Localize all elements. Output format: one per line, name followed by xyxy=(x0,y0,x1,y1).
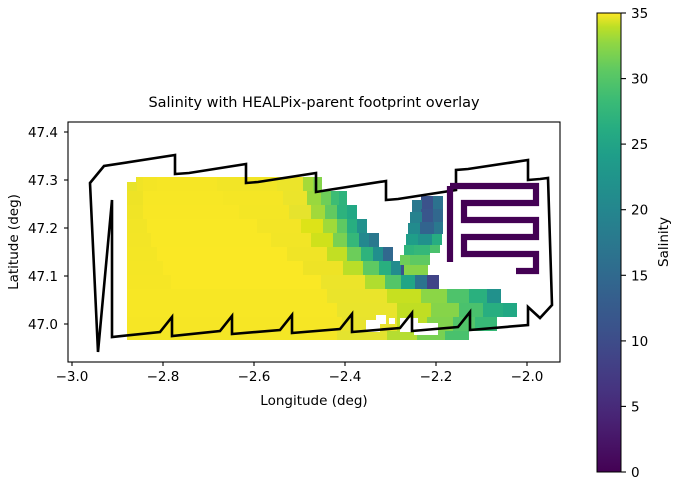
colorbar-tick-label-4: 20 xyxy=(631,203,648,219)
matplotlib-figure: Salinity with HEALPix-parent footprint o… xyxy=(0,0,677,489)
colorbar-tick-label-6: 30 xyxy=(631,72,648,88)
x-axis-label: Longitude (deg) xyxy=(260,393,367,409)
y-tick-label-1: 47.1 xyxy=(28,269,58,285)
figure-canvas: Salinity with HEALPix-parent footprint o… xyxy=(0,0,677,489)
y-tick-label-0: 47.0 xyxy=(28,317,58,333)
x-tick-label-2: −2.6 xyxy=(238,369,271,385)
colorbar-label: Salinity xyxy=(656,217,672,267)
y-tick-label-3: 47.3 xyxy=(28,173,58,189)
y-tick-label-4: 47.4 xyxy=(28,125,58,141)
colorbar-gradient xyxy=(597,13,621,472)
x-tick-label-4: −2.2 xyxy=(420,369,453,385)
colorbar-tick-label-0: 0 xyxy=(631,465,640,481)
y-tick-label-2: 47.2 xyxy=(28,221,58,237)
colorbar-tick-label-5: 25 xyxy=(631,137,648,153)
colorbar-tick-label-3: 15 xyxy=(631,268,648,284)
colorbar-tick-label-7: 35 xyxy=(631,6,648,22)
x-tick-label-5: −2.0 xyxy=(511,369,544,385)
y-axis-label: Latitude (deg) xyxy=(6,194,22,290)
x-tick-label-3: −2.4 xyxy=(329,369,362,385)
x-tick-label-1: −2.8 xyxy=(147,369,180,385)
colorbar-tick-label-2: 10 xyxy=(631,334,648,350)
plot-title: Salinity with HEALPix-parent footprint o… xyxy=(148,95,480,111)
colorbar-tick-label-1: 5 xyxy=(631,399,640,415)
x-tick-label-0: −3.0 xyxy=(56,369,89,385)
